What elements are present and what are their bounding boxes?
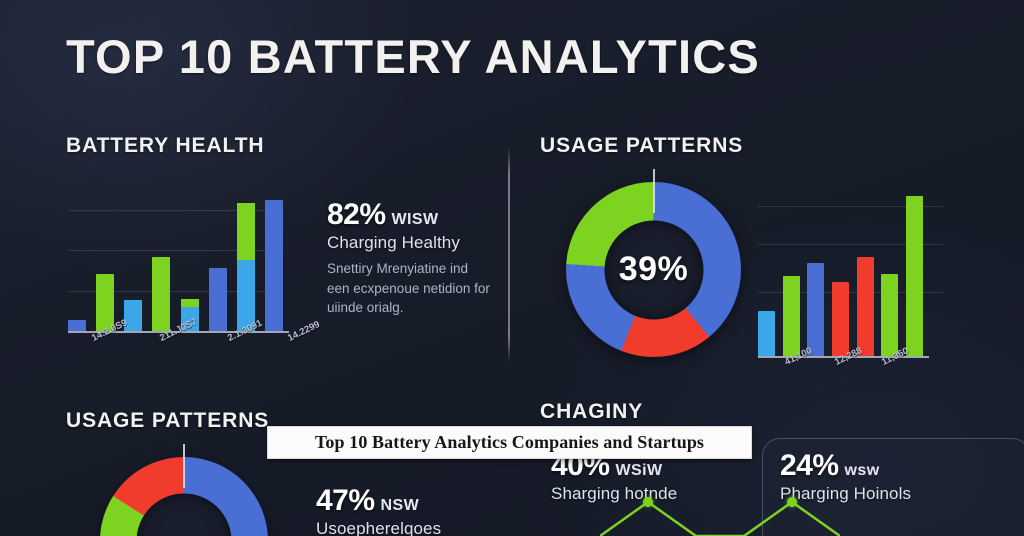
stat-subtitle: Charging Healthy — [327, 233, 492, 253]
bar — [857, 257, 874, 356]
stat-value-row: 24%wsw — [780, 449, 911, 483]
stat-value: 47% — [316, 484, 375, 517]
section-heading-usage-patterns-top: USAGE PATTERNS — [540, 134, 743, 158]
stat-suffix: wsw — [845, 462, 880, 479]
page-title: TOP 10 BATTERY ANALYTICS — [66, 33, 760, 80]
usage-patterns-donut-chart: 39% — [566, 182, 741, 357]
donut-hole-bottom — [137, 494, 232, 536]
overlay-banner: Top 10 Battery Analytics Companies and S… — [267, 426, 752, 459]
bar — [209, 268, 227, 331]
stat-usage-patterns: 47%NSW Usoepherelqoes — [316, 484, 441, 536]
section-divider — [508, 147, 510, 362]
section-heading-usage-patterns-bottom: USAGE PATTERNS — [66, 409, 269, 433]
bar — [807, 263, 824, 356]
usage-patterns-bar-chart — [758, 196, 923, 356]
stat-value: 24% — [780, 449, 839, 482]
bar — [758, 311, 775, 356]
sparkline-path — [600, 498, 840, 536]
sparkline-marker — [787, 497, 797, 507]
stat-suffix: WSiW — [616, 462, 663, 479]
usage-patterns-donut-chart-bottom — [100, 457, 268, 536]
stat-value: 82% — [327, 198, 386, 231]
stat-suffix: WISW — [392, 211, 439, 228]
bar — [906, 196, 923, 356]
bar — [152, 257, 170, 331]
infographic-canvas: TOP 10 BATTERY ANALYTICS BATTERY HEALTH … — [0, 0, 1024, 536]
donut-start-tick — [653, 169, 655, 213]
bar — [265, 200, 283, 331]
overlay-banner-label: Top 10 Battery Analytics Companies and S… — [315, 432, 704, 453]
stat-value-row: 82%WISW — [327, 198, 492, 232]
axis-tick-label: 14.2299 — [286, 319, 322, 344]
sparkline-marker — [643, 497, 653, 507]
stat-body-text: Snettiry Mrenyiatine ind een ecxpenoue n… — [327, 259, 492, 318]
stat-charging-right: 24%wsw Pharging Hoinols — [780, 449, 911, 504]
bar — [881, 274, 898, 356]
bar-segment — [237, 203, 255, 261]
battery-health-bar-chart — [68, 196, 283, 331]
donut-start-tick-bottom — [183, 444, 185, 488]
bar — [237, 203, 255, 331]
charging-sparkline-chart — [600, 498, 840, 536]
donut-hole: 39% — [604, 220, 703, 319]
stat-subtitle: Usoepherelqoes — [316, 519, 441, 536]
stat-suffix: NSW — [381, 497, 420, 514]
section-heading-charging: CHAGINY — [540, 400, 643, 424]
stat-value-row: 47%NSW — [316, 484, 441, 518]
section-heading-battery-health: BATTERY HEALTH — [66, 134, 264, 158]
bar-segment — [181, 299, 199, 307]
bar — [783, 276, 800, 356]
bar — [832, 282, 849, 356]
bar — [68, 320, 86, 331]
stat-battery-health: 82%WISW Charging Healthy Snettiry Mrenyi… — [327, 198, 492, 318]
donut-center-value: 39% — [619, 250, 689, 289]
